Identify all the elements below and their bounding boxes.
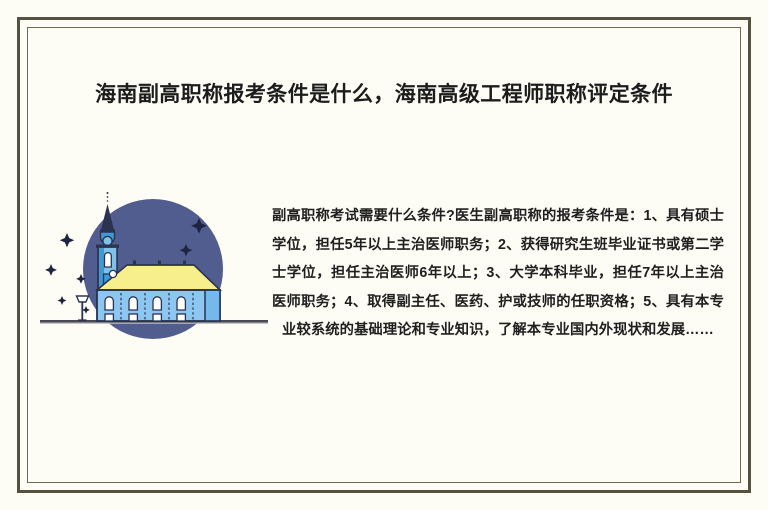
roof-ornament (133, 261, 136, 266)
tower-window (105, 253, 112, 267)
tower-cornice (96, 245, 119, 248)
building-illustration-svg (34, 186, 272, 346)
arched-window (105, 297, 113, 310)
lower-window (153, 314, 161, 321)
arched-window (153, 297, 161, 310)
sparkle-icon (82, 306, 90, 314)
arched-window (177, 297, 185, 310)
lamp-post (81, 302, 83, 321)
historic-building-illustration (34, 186, 272, 346)
roof-ornament (158, 261, 161, 266)
lower-window (177, 314, 185, 321)
sparkle-icon (45, 264, 57, 276)
finial-dot (107, 200, 109, 202)
lower-window (105, 314, 113, 321)
lower-window (129, 314, 137, 321)
content-row: 副高职称考试需要什么条件?医生副高职称的报考条件是：1、具有硕士学位，担任5年以… (34, 186, 734, 416)
ground-line-shadow (40, 323, 268, 324)
article-body-text: 副高职称考试需要什么条件?医生副高职称的报考条件是：1、具有硕士学位，担任5年以… (272, 202, 724, 345)
facade-side-panel (205, 290, 220, 321)
sparkle-icon (58, 296, 67, 305)
page-title: 海南副高职称报考条件是什么，海南高级工程师职称评定条件 (55, 78, 713, 112)
tower-clock (103, 236, 112, 245)
roof-dormer (109, 270, 116, 277)
lamp-base (78, 319, 87, 321)
sparkle-icon (60, 233, 74, 247)
roof-ornament (183, 261, 186, 266)
lamp-head (77, 296, 89, 302)
finial-dot (107, 196, 109, 198)
finial-dot (107, 192, 109, 194)
arched-window (129, 297, 137, 310)
